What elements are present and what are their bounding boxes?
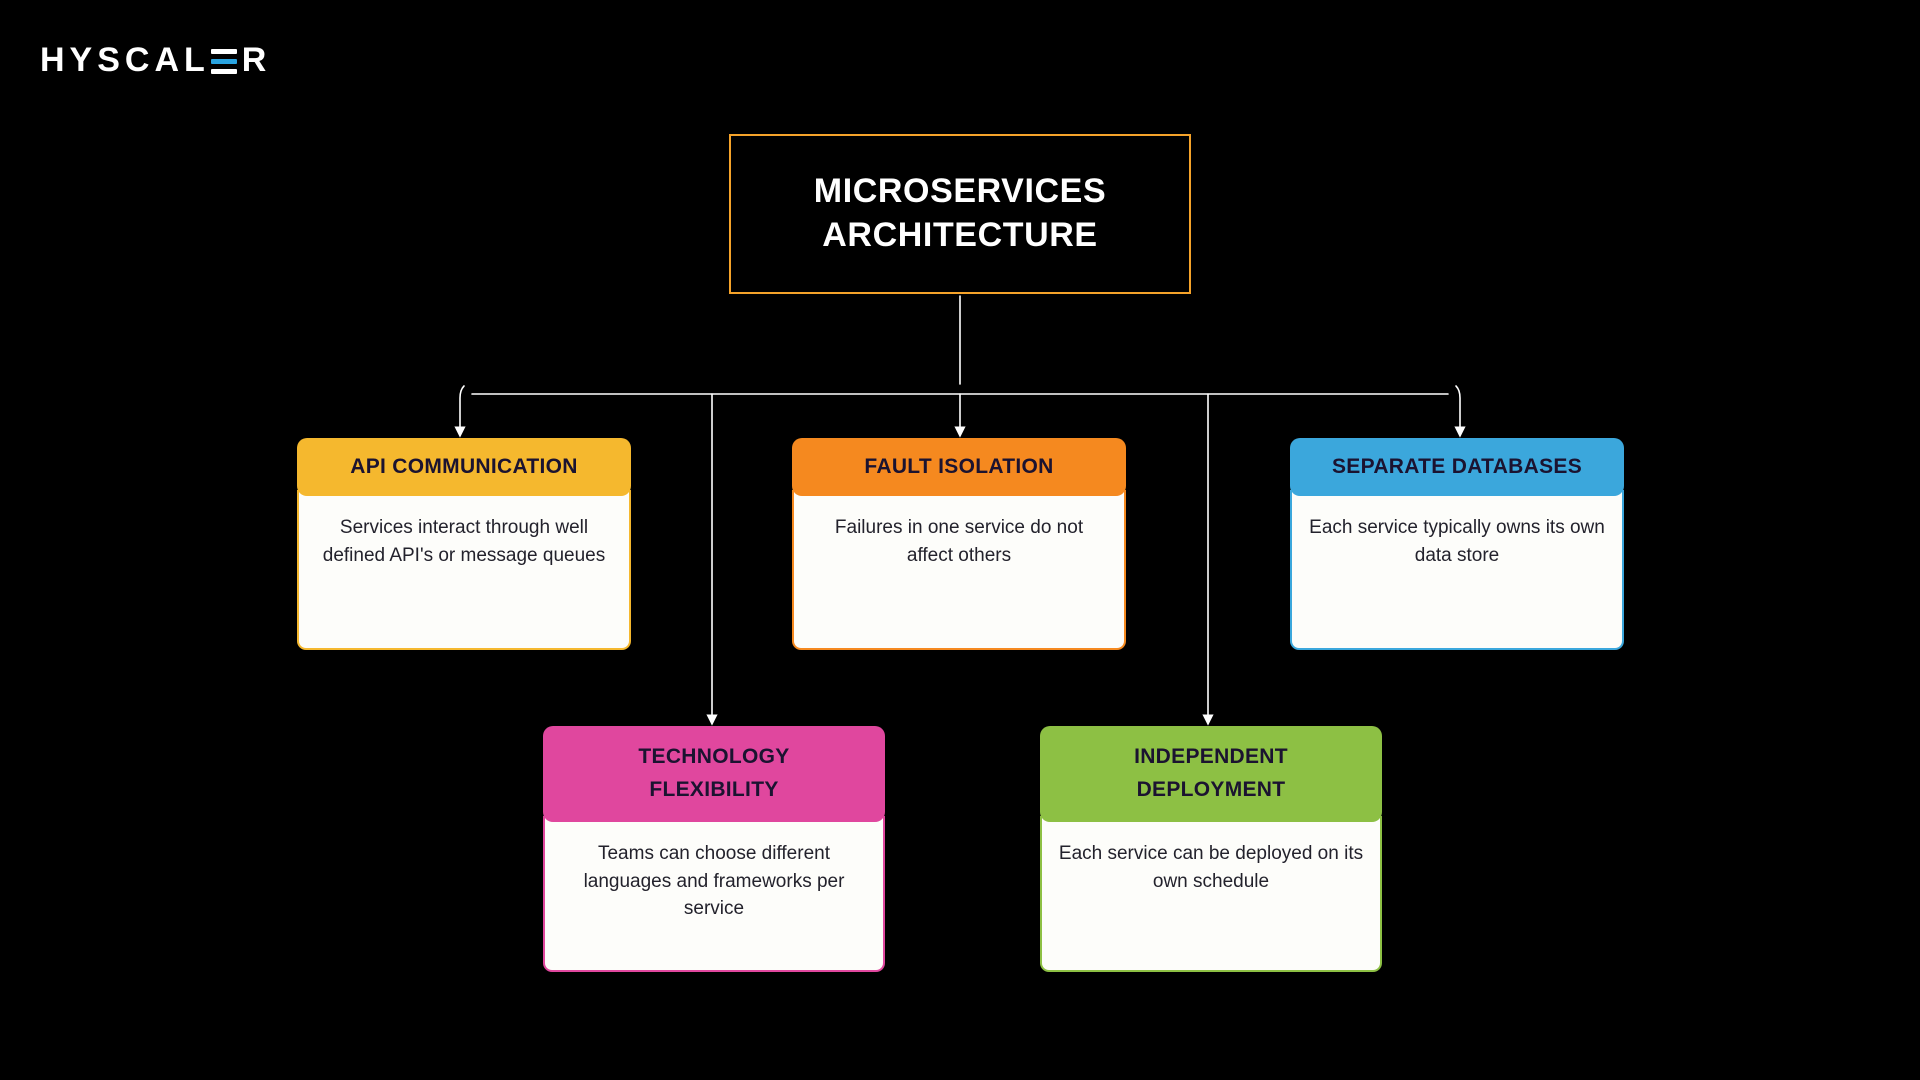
card-api-communication-body: Services interact through well defined A…	[297, 490, 631, 650]
card-api-communication-header: API COMMUNICATION	[297, 438, 631, 496]
card-fault-isolation-body: Failures in one service do not affect ot…	[792, 490, 1126, 650]
card-technology-flexibility[interactable]: TECHNOLOGY FLEXIBILITY Teams can choose …	[543, 726, 885, 972]
card-api-communication-title: API COMMUNICATION	[350, 455, 578, 479]
card-fault-isolation-title: FAULT ISOLATION	[864, 455, 1053, 479]
card-technology-flexibility-title-line1: TECHNOLOGY	[638, 745, 789, 768]
card-technology-flexibility-body: Teams can choose different languages and…	[543, 816, 885, 972]
root-node-microservices-architecture[interactable]: MICROSERVICES ARCHITECTURE	[729, 134, 1191, 294]
root-node-title-line2: ARCHITECTURE	[814, 214, 1106, 258]
card-independent-deployment[interactable]: INDEPENDENT DEPLOYMENT Each service can …	[1040, 726, 1382, 972]
connector-to-api-communication	[460, 386, 464, 432]
card-technology-flexibility-title: TECHNOLOGY FLEXIBILITY	[638, 741, 789, 806]
card-separate-databases-body: Each service typically owns its own data…	[1290, 490, 1624, 650]
card-separate-databases[interactable]: SEPARATE DATABASES Each service typicall…	[1290, 438, 1624, 650]
card-separate-databases-text: Each service typically owns its own data…	[1308, 514, 1606, 569]
card-fault-isolation-header: FAULT ISOLATION	[792, 438, 1126, 496]
card-separate-databases-header: SEPARATE DATABASES	[1290, 438, 1624, 496]
card-independent-deployment-header: INDEPENDENT DEPLOYMENT	[1040, 726, 1382, 822]
card-technology-flexibility-header: TECHNOLOGY FLEXIBILITY	[543, 726, 885, 822]
card-independent-deployment-title-line2: DEPLOYMENT	[1137, 778, 1286, 801]
architecture-diagram: MICROSERVICES ARCHITECTURE API COMMUNICA…	[0, 0, 1920, 1080]
card-independent-deployment-body: Each service can be deployed on its own …	[1040, 816, 1382, 972]
connector-to-separate-databases	[1456, 386, 1460, 432]
card-independent-deployment-text: Each service can be deployed on its own …	[1058, 840, 1364, 895]
card-fault-isolation-text: Failures in one service do not affect ot…	[810, 514, 1108, 569]
card-technology-flexibility-title-line2: FLEXIBILITY	[649, 778, 778, 801]
card-api-communication[interactable]: API COMMUNICATION Services interact thro…	[297, 438, 631, 650]
card-independent-deployment-title-line1: INDEPENDENT	[1134, 745, 1288, 768]
card-technology-flexibility-text: Teams can choose different languages and…	[561, 840, 867, 923]
root-node-title: MICROSERVICES ARCHITECTURE	[796, 170, 1124, 257]
card-fault-isolation[interactable]: FAULT ISOLATION Failures in one service …	[792, 438, 1126, 650]
card-independent-deployment-title: INDEPENDENT DEPLOYMENT	[1134, 741, 1288, 806]
card-separate-databases-title: SEPARATE DATABASES	[1332, 455, 1582, 479]
root-node-title-line1: MICROSERVICES	[814, 170, 1106, 214]
card-api-communication-text: Services interact through well defined A…	[315, 514, 613, 569]
